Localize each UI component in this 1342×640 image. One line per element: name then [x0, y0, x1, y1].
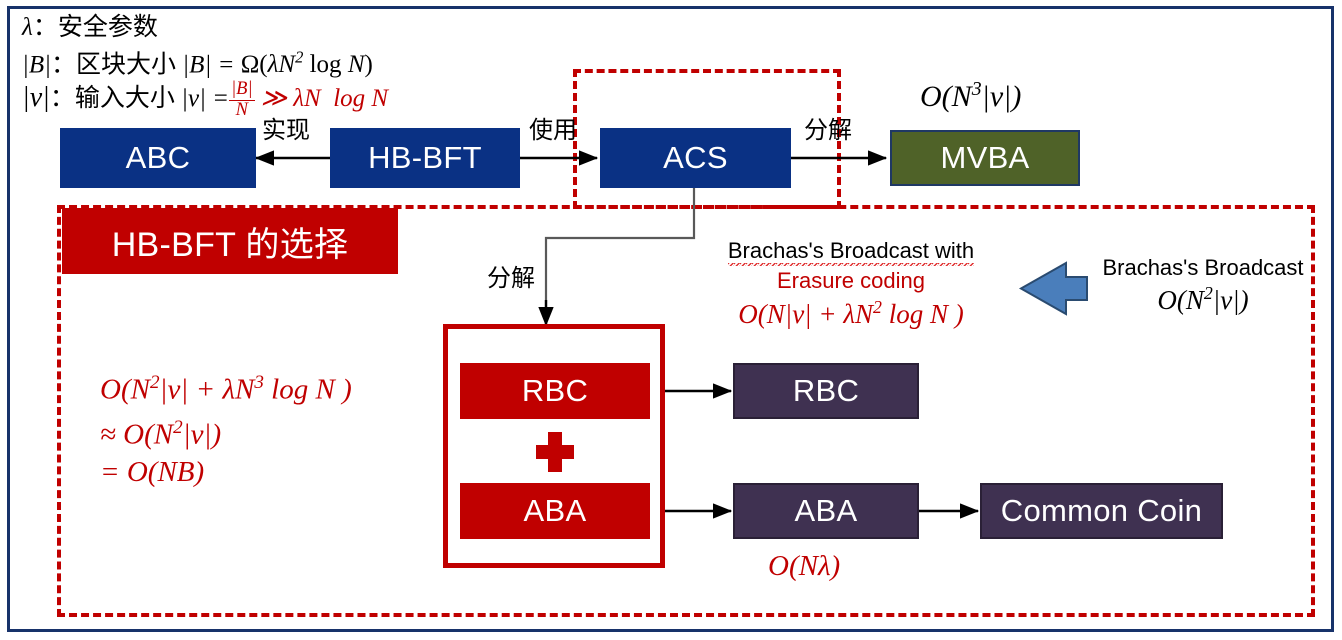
node-acs[interactable]: ACS	[600, 128, 791, 188]
node-aba-right-label: ABA	[795, 493, 858, 529]
legend-blocksize-text: ：区块大小	[51, 50, 176, 78]
legend-line-2: |B|：区块大小 |B| = Ω(λN2 log N)	[22, 43, 542, 80]
node-aba-right[interactable]: ABA	[733, 483, 919, 539]
node-rbc-inner-label: RBC	[522, 373, 588, 409]
edge-label-uses: 使用	[529, 110, 577, 145]
node-aba-inner-label: ABA	[524, 493, 587, 529]
node-rbc-right[interactable]: RBC	[733, 363, 919, 419]
annotation-mvba-complexity: O(N3|v|)	[920, 78, 1021, 114]
node-common-coin-label: Common Coin	[1001, 493, 1202, 529]
legend-inputsize-rhs: ≫ λN log N	[261, 85, 388, 112]
diagram-canvas: λ：安全参数 |B|：区块大小 |B| = Ω(λN2 log N) |v|：输…	[0, 0, 1342, 640]
legend-lambda-text: ：安全参数	[33, 13, 158, 41]
annotation-erasure-line1: Brachas's Broadcast with	[728, 238, 974, 266]
annotation-erasure-line2: Erasure coding	[686, 268, 1016, 294]
legend-line-1: λ：安全参数	[22, 12, 542, 43]
edge-label-implements: 实现	[262, 110, 310, 145]
node-acs-label: ACS	[663, 140, 728, 176]
edge-label-decompose-right: 分解	[804, 110, 852, 145]
legend-blocksize-lhs: |B| =	[182, 51, 234, 78]
legend-blocksize-symbol: |B|	[22, 51, 51, 78]
legend-block: λ：安全参数 |B|：区块大小 |B| = Ω(λN2 log N) |v|：输…	[22, 12, 542, 120]
annotation-left-complexity-block: O(N2|v| + λN3 log N ) ≈ O(N2|v|) = O(NB)	[100, 364, 460, 491]
node-rbc-right-label: RBC	[793, 373, 859, 409]
legend-fraction: |B|N	[229, 80, 254, 120]
legend-blocksize-rhs: Ω(λN2 log N)	[241, 51, 373, 78]
legend-inputsize-lhs: |v| =	[181, 85, 229, 112]
annotation-erasure-block: Brachas's Broadcast with Erasure coding …	[686, 238, 1016, 330]
annotation-brachas-complexity: O(N2|v|)	[1078, 283, 1328, 316]
node-hbbft[interactable]: HB-BFT	[330, 128, 520, 188]
node-hbbft-choice-label: HB-BFT 的选择	[112, 217, 349, 266]
annotation-erasure-complexity: O(N|v| + λN2 log N )	[686, 297, 1016, 330]
legend-inputsize-text: ：输入大小	[50, 84, 175, 112]
annotation-brachas-block: Brachas's Broadcast O(N2|v|)	[1078, 255, 1328, 316]
annotation-aba-complexity: O(Nλ)	[768, 550, 840, 583]
node-rbc-inner[interactable]: RBC	[460, 363, 650, 419]
node-abc[interactable]: ABC	[60, 128, 256, 188]
node-mvba[interactable]: MVBA	[890, 130, 1080, 186]
legend-inputsize-symbol: |v|	[22, 82, 50, 113]
node-hbbft-label: HB-BFT	[368, 140, 482, 176]
node-common-coin[interactable]: Common Coin	[980, 483, 1223, 539]
node-abc-label: ABC	[126, 140, 191, 176]
node-hbbft-choice-banner[interactable]: HB-BFT 的选择	[62, 208, 398, 274]
annotation-left-complexity-line2: ≈ O(N2|v|)	[100, 409, 460, 454]
node-mvba-label: MVBA	[940, 140, 1029, 176]
plus-icon	[536, 432, 574, 472]
edge-label-decompose-down: 分解	[487, 258, 535, 293]
annotation-left-complexity-line1: O(N2|v| + λN3 log N )	[100, 364, 460, 409]
annotation-brachas-title: Brachas's Broadcast	[1078, 255, 1328, 281]
legend-lambda-symbol: λ	[22, 14, 33, 41]
annotation-left-complexity-line3: = O(NB)	[100, 453, 460, 491]
node-aba-inner[interactable]: ABA	[460, 483, 650, 539]
